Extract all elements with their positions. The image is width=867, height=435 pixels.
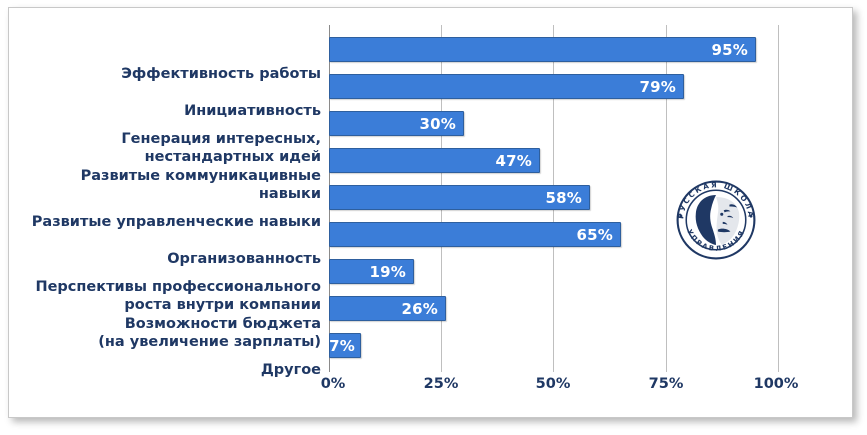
category-label: Инициативность — [11, 102, 329, 120]
xtick-label: 50% — [536, 376, 571, 392]
category-label: Развитые коммуникацивные навыки — [11, 167, 329, 203]
bar-row: 19% — [329, 259, 414, 284]
category-label: Другое — [11, 361, 329, 379]
bar[interactable]: 79% — [329, 74, 684, 99]
bar[interactable]: 95% — [329, 37, 756, 62]
bar-value-label: 19% — [369, 263, 413, 281]
bar-value-label: 26% — [401, 300, 445, 318]
bar[interactable]: 58% — [329, 185, 590, 210]
xtick-label: 100% — [754, 376, 799, 392]
bar-row: 30% — [329, 111, 464, 136]
bar-row: 65% — [329, 222, 621, 247]
bar-row: 79% — [329, 74, 684, 99]
category-label: Возможности бюджета (на увеличение зарпл… — [11, 315, 329, 351]
bar-row: 58% — [329, 185, 590, 210]
bar-value-label: 79% — [639, 78, 683, 96]
xtick-label: 0% — [321, 376, 346, 392]
category-label: Организованность — [11, 250, 329, 268]
bar-value-label: 30% — [419, 115, 463, 133]
logo: РУССКАЯ ШКОЛА УПРАВЛЕНИЯ — [668, 172, 764, 268]
category-label: Эффективность работы — [11, 65, 329, 83]
bar-row: 26% — [329, 296, 446, 321]
chart-image: Эффективность работы Инициативность Гене… — [0, 0, 867, 435]
bar[interactable]: 7% — [329, 333, 361, 358]
bar-row: 95% — [329, 37, 756, 62]
bar[interactable]: 26% — [329, 296, 446, 321]
bar[interactable]: 19% — [329, 259, 414, 284]
xtick-label: 25% — [424, 376, 459, 392]
bar-value-label: 7% — [326, 337, 360, 355]
bar-row: 47% — [329, 148, 540, 173]
bar-value-label: 65% — [576, 226, 620, 244]
svg-text:РУССКАЯ ШКОЛА: РУССКАЯ ШКОЛА — [676, 180, 756, 219]
category-label: Развитые управленческие навыки — [11, 213, 329, 231]
category-label: Перспективы профессионального роста внут… — [11, 278, 329, 314]
bar-row: 7% — [329, 333, 361, 358]
seal-logo-icon: РУССКАЯ ШКОЛА УПРАВЛЕНИЯ — [668, 172, 764, 268]
category-axis: Эффективность работы Инициативность Гене… — [0, 25, 329, 372]
bar-value-label: 58% — [545, 189, 589, 207]
bar[interactable]: 30% — [329, 111, 464, 136]
bar[interactable]: 65% — [329, 222, 621, 247]
category-label: Генерация интересных, нестандартных идей — [11, 130, 329, 166]
xtick-label: 75% — [649, 376, 684, 392]
bar-value-label: 47% — [495, 152, 539, 170]
gridline-100 — [778, 25, 779, 372]
bar[interactable]: 47% — [329, 148, 540, 173]
bar-value-label: 95% — [711, 41, 755, 59]
svg-text:УПРАВЛЕНИЯ: УПРАВЛЕНИЯ — [685, 228, 746, 253]
